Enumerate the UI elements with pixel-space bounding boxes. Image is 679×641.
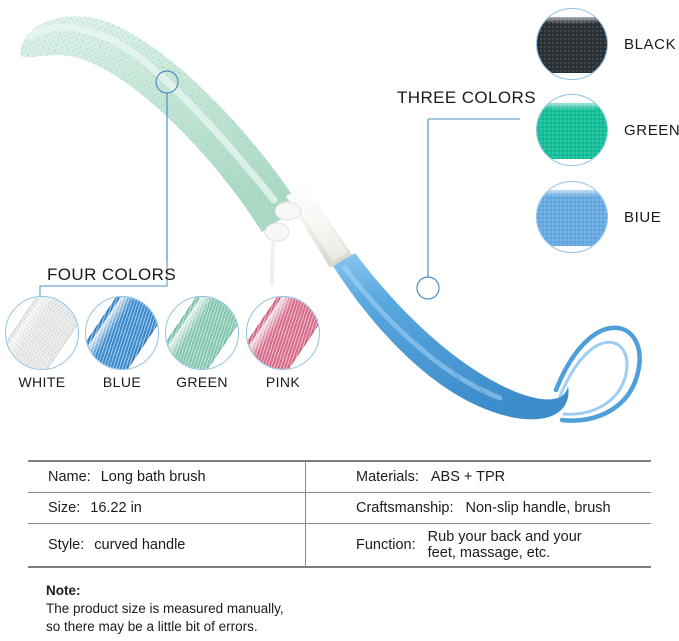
swatch-circle [536,94,608,166]
spec-key: Name: [48,469,91,485]
swatch-highlight [165,296,228,370]
spec-cell-left: Name: Long bath brush [28,461,306,493]
spec-key: Materials: [356,469,419,485]
handle-color-swatch-green: GREEN [536,94,679,166]
four-colors-label: FOUR COLORS [47,265,176,285]
spec-cell-right: Craftsmanship: Non-slip handle, brush [340,493,651,524]
handle-callout-leader [417,119,439,299]
swatch-highlight [246,296,309,370]
swatch-fill [536,17,608,73]
table-divider [306,524,341,568]
product-infographic: FOUR COLORS THREE COLORS BLACK GREEN BIU… [0,0,679,641]
note-title: Note: [46,582,284,600]
swatch-circle [536,181,608,253]
table-row: Name: Long bath brush Materials: ABS + T… [28,461,651,493]
spec-value: 16.22 in [90,500,142,516]
spec-key: Size: [48,500,80,516]
hanging-loop [556,328,640,421]
spec-cell-right: Function: Rub your back and your feet, m… [340,524,651,568]
swatch-highlight [5,296,68,370]
sponge-color-swatch-green: GREEN [162,296,242,390]
sponge-color-name: PINK [243,374,323,390]
handle-neck [286,186,352,268]
spec-value: ABS + TPR [431,469,505,485]
spec-key: Function: [356,537,416,553]
spec-cell-left: Style: curved handle [28,524,306,568]
swatch-circle [246,296,320,370]
table-divider [306,493,341,524]
table-divider [306,461,341,493]
specification-table: Name: Long bath brush Materials: ABS + T… [28,460,651,568]
swatch-circle [536,8,608,80]
swatch-highlight [85,296,148,370]
spec-cell-left: Size: 16.22 in [28,493,306,524]
sponge-color-swatch-blue: BLUE [82,296,162,390]
spec-value: Long bath brush [101,469,206,485]
sponge-color-name: WHITE [2,374,82,390]
swatch-fill [85,296,159,370]
spec-cell-right: Materials: ABS + TPR [340,461,651,493]
note-line-2: so there may be a little bit of errors. [46,618,284,636]
swatch-fill [536,190,608,246]
note-line-1: The product size is measured manually, [46,600,284,618]
spec-value: Non-slip handle, brush [466,500,611,516]
swatch-fill [165,296,239,370]
sponge-color-swatch-pink: PINK [243,296,323,390]
spec-value: Rub your back and your feet, massage, et… [428,529,582,561]
handle-color-name: GREEN [624,122,679,139]
note-block: Note: The product size is measured manua… [46,582,284,636]
spec-key: Style: [48,537,84,553]
handle-color-swatch-black: BLACK [536,8,676,80]
handle-color-name: BIUE [624,209,661,226]
swatch-circle [85,296,159,370]
three-colors-label: THREE COLORS [397,88,536,108]
sponge-color-name: GREEN [162,374,242,390]
spec-key: Craftsmanship: [356,500,454,516]
table-row: Size: 16.22 in Craftsmanship: Non-slip h… [28,493,651,524]
handle-color-swatch-blue: BIUE [536,181,661,253]
swatch-circle [5,296,79,370]
swatch-fill [246,296,320,370]
sponge-color-swatch-white: WHITE [2,296,82,390]
swatch-circle [165,296,239,370]
table-row: Style: curved handle Function: Rub your … [28,524,651,568]
handle-grip [333,253,569,419]
sponge-color-name: BLUE [82,374,162,390]
swatch-fill [5,296,79,370]
spec-value: curved handle [94,537,185,553]
swatch-fill [536,103,608,159]
handle-color-name: BLACK [624,36,676,53]
sponge-head [20,16,300,232]
